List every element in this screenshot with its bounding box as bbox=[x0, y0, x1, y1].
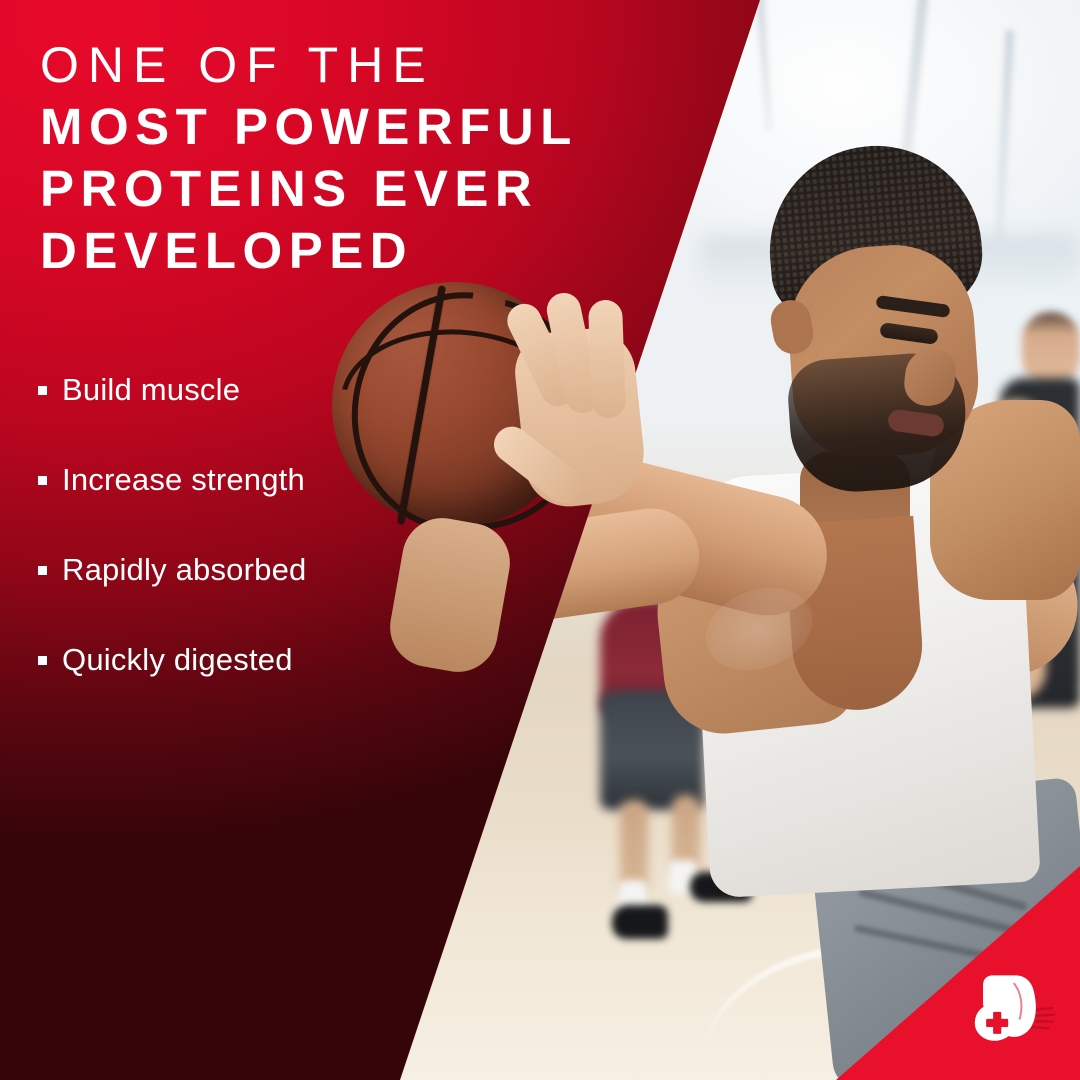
list-item: Build muscle bbox=[38, 345, 438, 435]
headline: ONE OF THE MOST POWERFUL PROTEINS EVER D… bbox=[40, 34, 730, 282]
bullet-square-icon bbox=[38, 476, 47, 485]
list-item: Increase strength bbox=[38, 435, 438, 525]
flexed-bicep-with-cross-logo bbox=[960, 960, 1056, 1056]
bullet-square-icon bbox=[38, 656, 47, 665]
window-frame-icon bbox=[755, 0, 773, 130]
window-frame-icon bbox=[995, 30, 1015, 240]
headline-line-2: MOST POWERFUL bbox=[40, 96, 730, 158]
athlete-finger bbox=[588, 299, 626, 418]
bullet-square-icon bbox=[38, 566, 47, 575]
list-item: Rapidly absorbed bbox=[38, 525, 438, 615]
benefit-label: Rapidly absorbed bbox=[62, 552, 306, 588]
list-item: Quickly digested bbox=[38, 615, 438, 705]
headline-line-4: DEVELOPED bbox=[40, 220, 730, 282]
bullet-square-icon bbox=[38, 386, 47, 395]
headline-line-3: PROTEINS EVER bbox=[40, 158, 730, 220]
background-player-shoe bbox=[612, 905, 668, 939]
benefits-list: Build muscle Increase strength Rapidly a… bbox=[38, 345, 438, 705]
promo-banner: ONE OF THE MOST POWERFUL PROTEINS EVER D… bbox=[0, 0, 1080, 1080]
motion-streak-icon bbox=[1033, 1008, 1054, 1028]
benefit-label: Increase strength bbox=[62, 462, 305, 498]
second-player-head bbox=[1022, 312, 1080, 386]
headline-line-1: ONE OF THE bbox=[40, 34, 730, 96]
benefit-label: Build muscle bbox=[62, 372, 240, 408]
benefit-label: Quickly digested bbox=[62, 642, 293, 678]
